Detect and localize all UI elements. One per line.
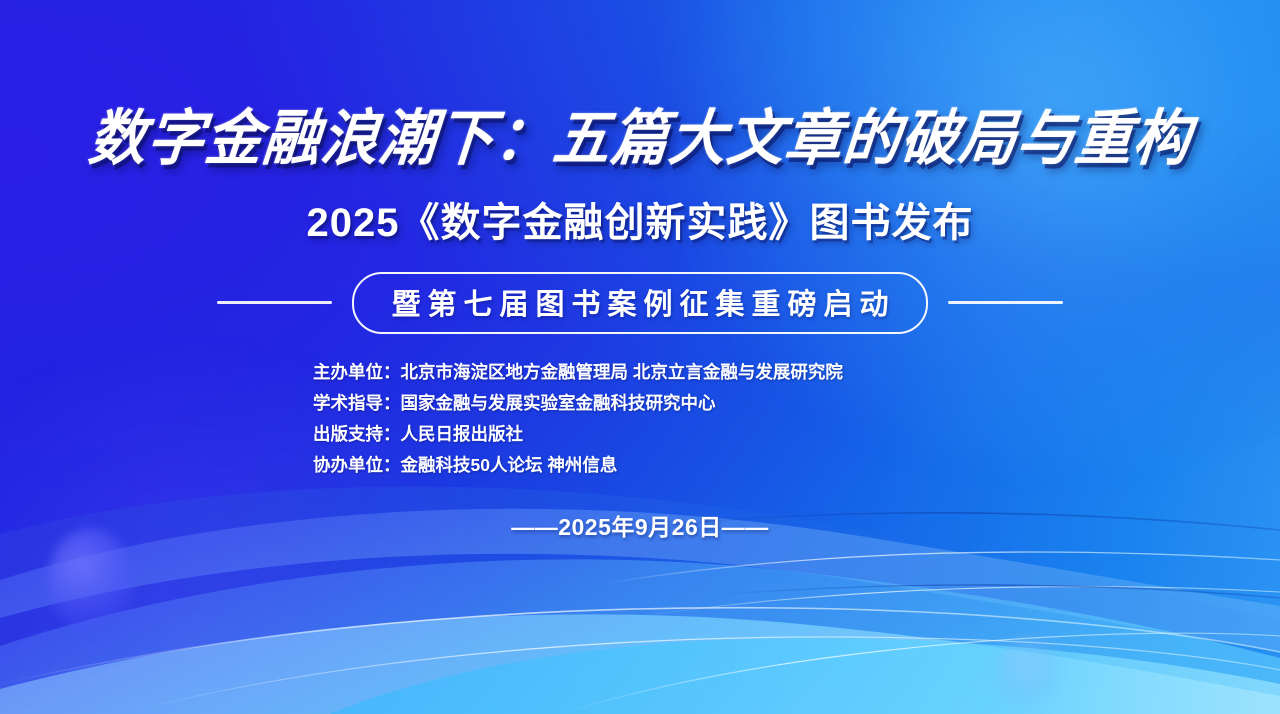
org-line-publisher: 出版支持： 人民日报出版社	[313, 419, 523, 450]
org-label: 出版支持：	[313, 419, 401, 450]
launch-badge: 暨第七届图书案例征集重磅启动	[352, 272, 927, 334]
badge-row: 暨第七届图书案例征集重磅启动	[135, 272, 1145, 334]
left-flank-line	[217, 301, 332, 304]
poster-content: 数字金融浪潮下：五篇大文章的破局与重构 2025《数字金融创新实践》图书发布 暨…	[0, 0, 1280, 714]
org-line-host: 主办单位： 北京市海淀区地方金融管理局 北京立言金融与发展研究院	[313, 357, 843, 388]
org-value: 北京市海淀区地方金融管理局 北京立言金融与发展研究院	[401, 357, 843, 388]
event-date: ——2025年9月26日——	[511, 508, 769, 542]
org-label: 学术指导：	[313, 388, 401, 419]
org-line-academic: 学术指导： 国家金融与发展实验室金融科技研究中心	[313, 388, 716, 419]
org-line-coorganizer: 协办单位： 金融科技50人论坛 神州信息	[313, 450, 617, 481]
org-value: 国家金融与发展实验室金融科技研究中心	[401, 388, 716, 419]
organizations-block: 主办单位： 北京市海淀区地方金融管理局 北京立言金融与发展研究院 学术指导： 国…	[0, 357, 1280, 482]
org-value: 金融科技50人论坛 神州信息	[401, 450, 618, 481]
org-label: 主办单位：	[313, 357, 401, 388]
sub-title: 2025《数字金融创新实践》图书发布	[307, 190, 974, 248]
date-row: ——2025年9月26日——	[511, 508, 769, 542]
org-value: 人民日报出版社	[401, 419, 524, 450]
org-label: 协办单位：	[313, 450, 401, 481]
poster-canvas: 数字金融浪潮下：五篇大文章的破局与重构 2025《数字金融创新实践》图书发布 暨…	[0, 0, 1280, 714]
main-title: 数字金融浪潮下：五篇大文章的破局与重构	[86, 106, 1194, 171]
right-flank-line	[948, 301, 1063, 304]
